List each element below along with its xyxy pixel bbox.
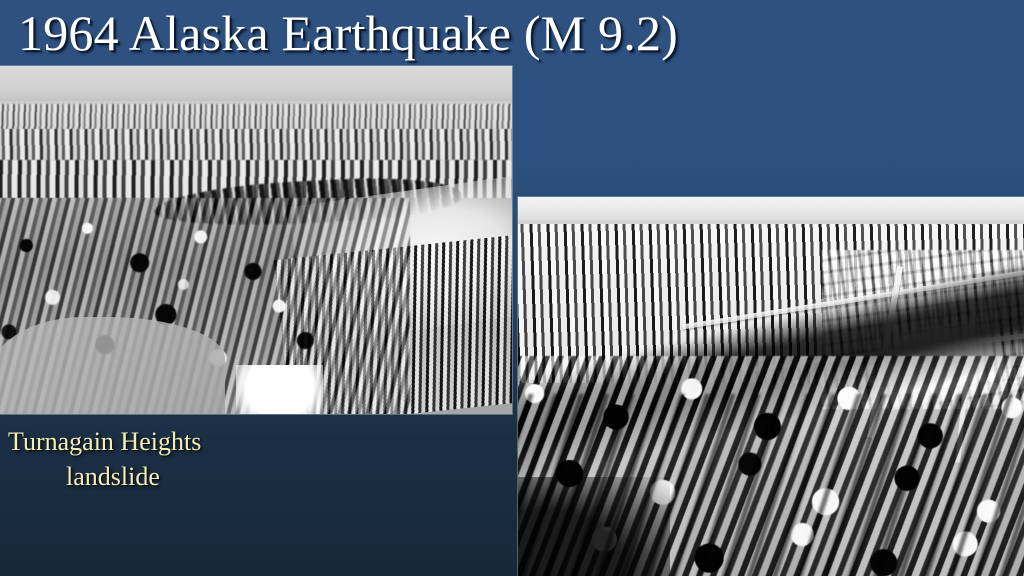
left-photo-content	[0, 66, 512, 414]
left-photo-mudflat	[0, 317, 225, 414]
right-photo	[518, 197, 1024, 576]
right-photo-shadow-corner	[518, 477, 670, 576]
left-photo-far-band-1	[0, 104, 512, 128]
caption-line-1: Turnagain Heights	[8, 424, 308, 459]
photo-caption: Turnagain Heights landslide	[8, 424, 308, 494]
left-photo-far-band-2	[0, 129, 512, 160]
page-title: 1964 Alaska Earthquake (M 9.2)	[18, 8, 678, 58]
left-photo-snow-mound	[236, 365, 323, 414]
slide-canvas: 1964 Alaska Earthquake (M 9.2)	[0, 0, 1024, 576]
title-bar: 1964 Alaska Earthquake (M 9.2)	[0, 0, 1024, 66]
right-photo-content	[518, 197, 1024, 576]
left-photo	[0, 66, 512, 414]
caption-line-2: landslide	[8, 459, 308, 494]
